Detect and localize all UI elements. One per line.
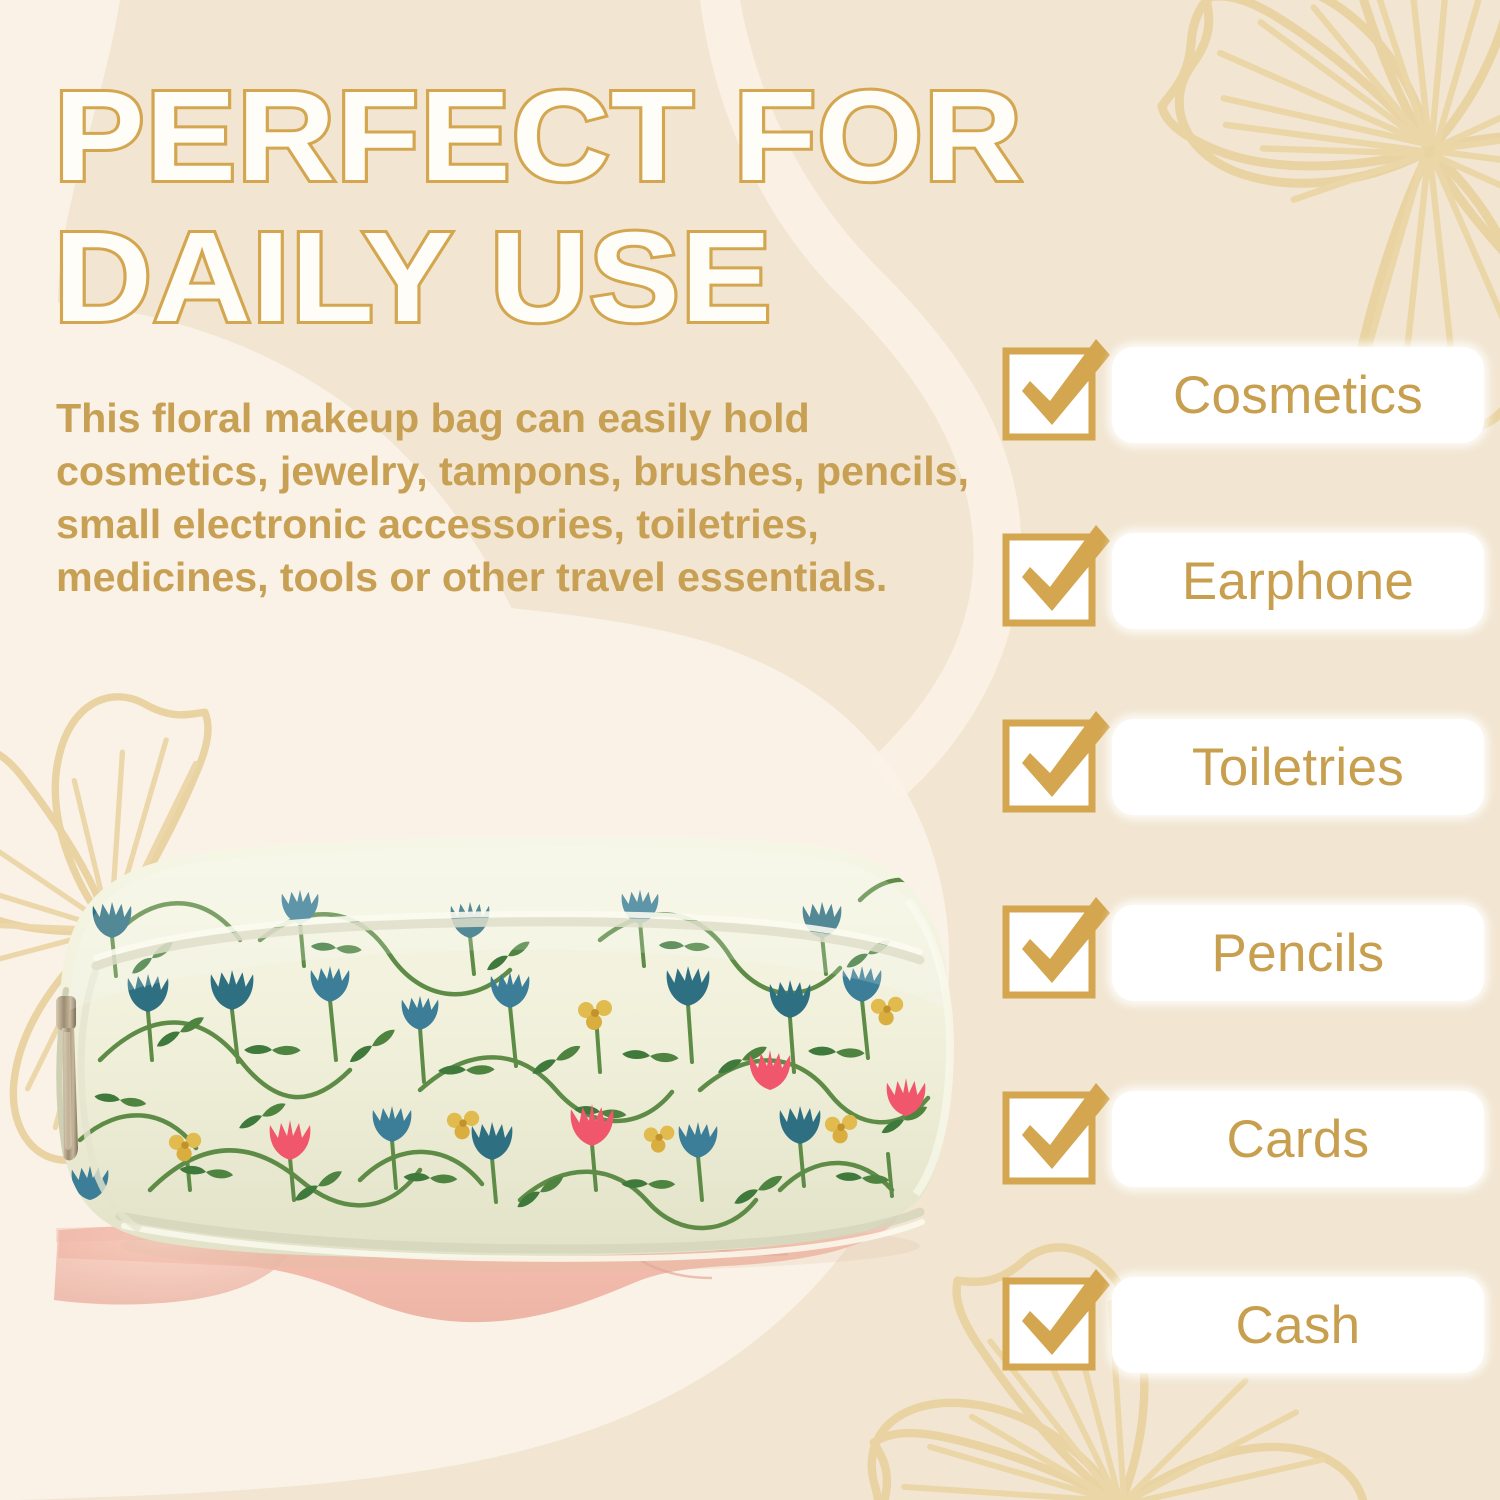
feature-pill[interactable]: Cosmetics [1112,347,1484,443]
checklist-row[interactable]: Cosmetics [1004,346,1484,444]
checkbox-checked-icon[interactable] [1004,1279,1096,1371]
checkbox-checked-icon[interactable] [1004,1093,1096,1185]
checklist-row[interactable]: Cash [1004,1276,1484,1374]
feature-label: Cosmetics [1173,369,1423,422]
checkbox-checked-icon[interactable] [1004,721,1096,813]
zipper-pull [56,990,78,1160]
headline-line-1: PERFECT FOR [54,74,1114,201]
feature-pill[interactable]: Toiletries [1112,719,1484,815]
checkbox-checked-icon[interactable] [1004,535,1096,627]
feature-label: Pencils [1212,927,1385,980]
checklist-row[interactable]: Toiletries [1004,718,1484,816]
checklist-row[interactable]: Earphone [1004,532,1484,630]
product-feature-banner: PERFECT FOR DAILY USE This floral makeup… [0,0,1500,1500]
feature-label: Earphone [1182,555,1414,608]
feature-label: Toiletries [1192,741,1404,794]
checkbox-checked-icon[interactable] [1004,907,1096,999]
feature-pill[interactable]: Cash [1112,1277,1484,1373]
headline-line-2: DAILY USE [54,215,1114,342]
feature-label: Cards [1227,1113,1370,1166]
headline: PERFECT FOR DAILY USE [54,74,1054,341]
checklist-row[interactable]: Pencils [1004,904,1484,1002]
feature-pill[interactable]: Cards [1112,1091,1484,1187]
feature-pill[interactable]: Pencils [1112,905,1484,1001]
feature-checklist: Cosmetics Earphone Toiletr [1004,346,1484,1374]
feature-label: Cash [1236,1299,1361,1352]
checklist-row[interactable]: Cards [1004,1090,1484,1188]
makeup-bag [21,836,951,1272]
checkbox-checked-icon[interactable] [1004,349,1096,441]
feature-pill[interactable]: Earphone [1112,533,1484,629]
description-paragraph: This floral makeup bag can easily hold c… [56,392,1020,604]
product-photo [0,760,1010,1500]
